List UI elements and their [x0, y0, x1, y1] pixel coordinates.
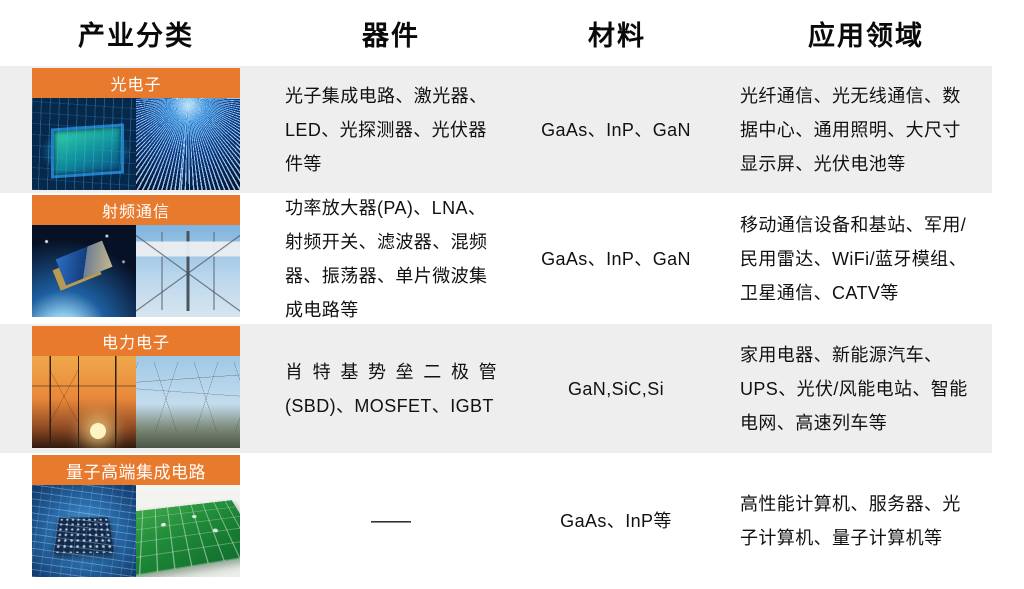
- category-cell: 量子高端集成电路: [32, 455, 240, 577]
- application-text: 高性能计算机、服务器、光子计算机、量子计算机等: [740, 487, 978, 555]
- device-cell: 功率放大器(PA)、LNA、射频开关、滤波器、混频器、振荡器、单片微波集成电路等: [285, 193, 497, 324]
- category-cell: 射频通信: [32, 195, 240, 317]
- power-transmission-lines-photo-icon: [136, 356, 240, 448]
- application-cell: 光纤通信、光无线通信、数据中心、通用照明、大尺寸显示屏、光伏电池等: [740, 66, 978, 193]
- table-row: 量子高端集成电路 —— GaAs、InP等 高性能计算机、服务器、光子计算机、量…: [0, 453, 1024, 589]
- column-header-category: 产业分类: [32, 0, 240, 66]
- column-header-application: 应用领域: [740, 0, 992, 66]
- application-text: 光纤通信、光无线通信、数据中心、通用照明、大尺寸显示屏、光伏电池等: [740, 79, 978, 181]
- material-cell: GaAs、InP等: [509, 453, 723, 589]
- material-text: GaAs、InP等: [509, 504, 723, 538]
- device-text: 肖特基势垒二极管(SBD)、MOSFET、IGBT: [285, 355, 497, 423]
- category-photo: [32, 356, 240, 448]
- application-text: 家用电器、新能源汽车、UPS、光伏/风能电站、智能电网、高速列车等: [740, 338, 978, 440]
- category-cell: 电力电子: [32, 326, 240, 448]
- device-cell: 光子集成电路、激光器、LED、光探测器、光伏器件等: [285, 66, 497, 193]
- category-banner: 电力电子: [32, 326, 240, 356]
- table-header-row: 产业分类 器件 材料 应用领域: [0, 0, 1024, 66]
- blue-circuit-chip-photo-icon: [32, 98, 136, 190]
- device-text: 光子集成电路、激光器、LED、光探测器、光伏器件等: [285, 79, 497, 181]
- material-text: GaAs、InP、GaN: [509, 242, 723, 276]
- material-cell: GaAs、InP、GaN: [509, 66, 723, 193]
- device-cell: 肖特基势垒二极管(SBD)、MOSFET、IGBT: [285, 324, 497, 453]
- category-banner: 量子高端集成电路: [32, 455, 240, 485]
- category-photo: [32, 485, 240, 577]
- material-cell: GaAs、InP、GaN: [509, 193, 723, 324]
- material-cell: GaN,SiC,Si: [509, 324, 723, 453]
- material-text: GaAs、InP、GaN: [509, 113, 723, 147]
- column-header-material: 材料: [512, 0, 722, 66]
- table-row: 光电子 光子集成电路、激光器、LED、光探测器、光伏器件等 GaAs、InP、G…: [0, 66, 1024, 193]
- blue-bga-chip-photo-icon: [32, 485, 136, 577]
- application-text: 移动通信设备和基站、军用/民用雷达、WiFi/蓝牙模组、卫星通信、CATV等: [740, 208, 978, 310]
- category-photo: [32, 98, 240, 190]
- wind-turbines-sunset-photo-icon: [32, 356, 136, 448]
- category-cell: 光电子: [32, 68, 240, 190]
- device-text: 功率放大器(PA)、LNA、射频开关、滤波器、混频器、振荡器、单片微波集成电路等: [285, 191, 497, 327]
- application-cell: 移动通信设备和基站、军用/民用雷达、WiFi/蓝牙模组、卫星通信、CATV等: [740, 193, 978, 324]
- material-text: GaN,SiC,Si: [509, 372, 723, 406]
- green-pcb-board-photo-icon: [136, 485, 240, 577]
- column-header-device: 器件: [285, 0, 497, 66]
- category-banner: 光电子: [32, 68, 240, 98]
- application-cell: 家用电器、新能源汽车、UPS、光伏/风能电站、智能电网、高速列车等: [740, 324, 978, 453]
- blue-light-rays-photo-icon: [136, 98, 240, 190]
- table-row: 电力电子 肖特基势垒二极管(SBD)、MOSFET、IGBT GaN,SiC,S…: [0, 324, 1024, 453]
- satellite-over-earth-photo-icon: [32, 225, 136, 317]
- cellular-tower-photo-icon: [136, 225, 240, 317]
- table-row: 射频通信 功率放大器(PA)、LNA、射频开关、滤波器、混频器、振荡器、单片微波…: [0, 193, 1024, 324]
- industry-classification-table: 产业分类 器件 材料 应用领域 光电子 光子集成电路、激光器、LED、光探测器、…: [0, 0, 1024, 589]
- category-banner: 射频通信: [32, 195, 240, 225]
- device-cell: ——: [285, 453, 497, 589]
- application-cell: 高性能计算机、服务器、光子计算机、量子计算机等: [740, 453, 978, 589]
- device-text: ——: [285, 504, 497, 538]
- category-photo: [32, 225, 240, 317]
